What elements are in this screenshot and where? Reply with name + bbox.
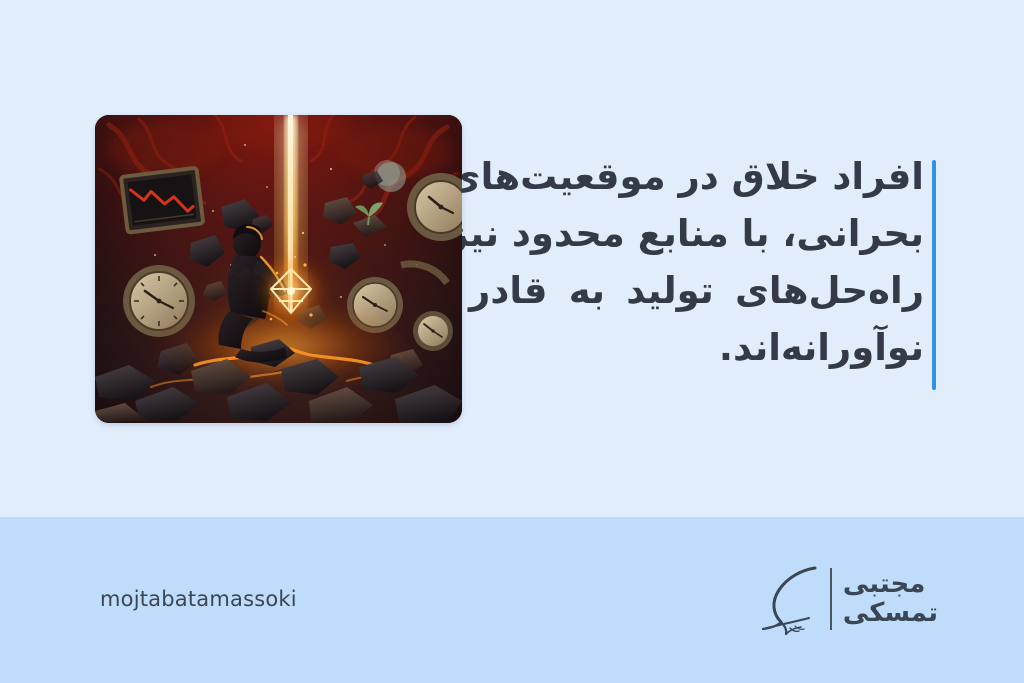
- quote-line-2: بحرانی، با منابع محدود نیز: [469, 205, 924, 262]
- artwork-block: [88, 115, 462, 423]
- quote-line-3-word-4: قادر: [469, 262, 547, 319]
- brand-logo-line-1: مجتبی: [843, 570, 925, 599]
- quote-text: افراد خلاق در موقعیت‌های بحرانی، با مناب…: [469, 148, 924, 376]
- quote-card: افراد خلاق در موقعیت‌های بحرانی، با مناب…: [0, 0, 1024, 683]
- quote-line-3-word-1: راه‌حل‌های: [735, 262, 924, 319]
- brand-logo: مجتبی تمسکی: [757, 556, 938, 642]
- author-handle: mojtabatamassoki: [100, 587, 297, 611]
- calligraphy-pen-mark-icon: [757, 560, 819, 638]
- quote-line-3-word-3: به: [569, 262, 605, 319]
- quote-line-1: افراد خلاق در موقعیت‌های: [469, 148, 924, 205]
- quote-accent-rule: [932, 160, 936, 390]
- quote-line-3-word-2: تولید: [626, 262, 713, 319]
- brand-logo-line-2: تمسکی: [843, 599, 938, 628]
- artwork-image: [95, 115, 462, 423]
- brand-logo-divider: [830, 568, 832, 630]
- quote-line-3: راه‌حل‌های تولید به قادر: [469, 262, 924, 319]
- quote-line-4: نوآورانه‌اند.: [469, 319, 924, 376]
- brand-logo-words: مجتبی تمسکی: [843, 570, 938, 628]
